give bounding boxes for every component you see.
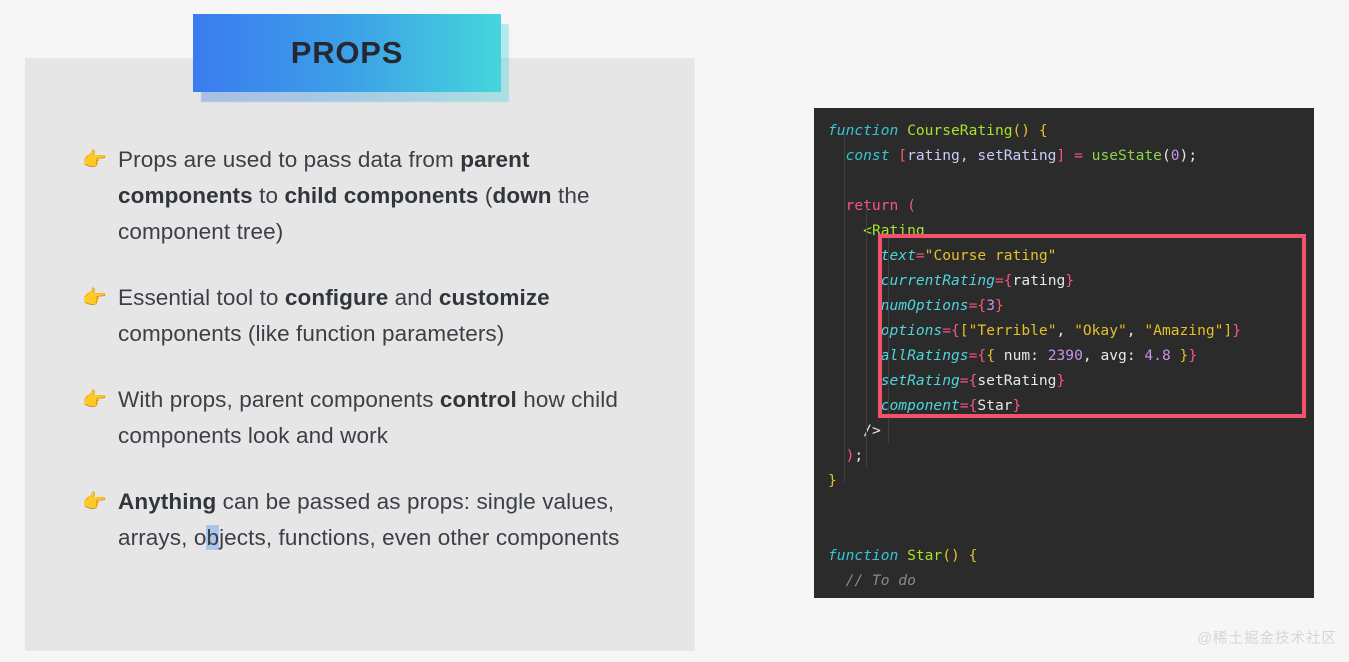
code-token: avg xyxy=(1100,347,1126,364)
code-token: options xyxy=(881,322,943,339)
code-panel: function CourseRating() { const [rating,… xyxy=(814,108,1314,598)
bullet-text: With props, parent components control ho… xyxy=(118,382,642,454)
code-token: component xyxy=(881,397,960,414)
code-token: function xyxy=(828,547,907,564)
watermark: @稀土掘金技术社区 xyxy=(1197,627,1337,648)
code-token: } xyxy=(1232,322,1241,339)
bullet-list: 👉Props are used to pass data from parent… xyxy=(82,142,642,586)
code-token: ] xyxy=(1056,147,1065,164)
code-line: currentRating={rating} xyxy=(828,268,1314,293)
code-token: () xyxy=(942,547,960,564)
code-line: numOptions={3} xyxy=(828,293,1314,318)
code-line: function CourseRating() { xyxy=(828,118,1314,143)
code-token xyxy=(1030,122,1039,139)
code-token: ] xyxy=(1223,322,1232,339)
pointing-hand-icon: 👉 xyxy=(82,382,118,417)
bullet-item: 👉Anything can be passed as props: single… xyxy=(82,484,642,556)
code-token: ( xyxy=(907,197,916,214)
code-token: function xyxy=(828,122,907,139)
code-token: = xyxy=(942,322,951,339)
code-token: : xyxy=(1030,347,1048,364)
code-token: "Course rating" xyxy=(925,247,1057,264)
code-token xyxy=(828,347,881,364)
code-token xyxy=(828,322,881,339)
code-line: options={["Terrible", "Okay", "Amazing"]… xyxy=(828,318,1314,343)
code-token: numOptions xyxy=(881,297,969,314)
code-line: /> xyxy=(828,418,1314,443)
code-token xyxy=(828,372,881,389)
code-token: { xyxy=(1004,272,1013,289)
bullet-text: Anything can be passed as props: single … xyxy=(118,484,642,556)
code-token xyxy=(995,347,1004,364)
code-token: currentRating xyxy=(881,272,995,289)
code-token: 2390 xyxy=(1048,347,1083,364)
code-token xyxy=(1083,147,1092,164)
code-token: { xyxy=(969,547,978,564)
code-token: , xyxy=(960,147,978,164)
code-line: ); xyxy=(828,443,1314,468)
code-token: { xyxy=(1039,122,1048,139)
code-token xyxy=(828,272,881,289)
code-token: useState xyxy=(1092,147,1162,164)
bullet-text: Props are used to pass data from parent … xyxy=(118,142,642,250)
code-token: } xyxy=(1065,272,1074,289)
code-line: component={Star} xyxy=(828,393,1314,418)
code-token: ( xyxy=(1162,147,1171,164)
code-token xyxy=(828,572,846,589)
code-token: = xyxy=(995,272,1004,289)
code-token: "Okay" xyxy=(1074,322,1127,339)
code-token: } xyxy=(1013,397,1022,414)
code-token: : xyxy=(1127,347,1145,364)
code-token: 0 xyxy=(1171,147,1180,164)
code-token: = xyxy=(960,397,969,414)
pointing-hand-icon: 👉 xyxy=(82,484,118,519)
code-token: return xyxy=(846,197,899,214)
code-line: allRatings={{ num: 2390, avg: 4.8 }} xyxy=(828,343,1314,368)
code-token: CourseRating xyxy=(907,122,1012,139)
code-token: Star xyxy=(907,547,942,564)
code-token: { xyxy=(977,297,986,314)
indent-guide xyxy=(866,208,867,468)
page-title: PROPS xyxy=(291,35,404,71)
code-token: = xyxy=(960,372,969,389)
code-token: } xyxy=(828,472,837,489)
code-token: text xyxy=(881,247,916,264)
bullet-item: 👉Essential tool to configure and customi… xyxy=(82,280,642,352)
code-token: } xyxy=(828,597,837,598)
code-token xyxy=(828,247,881,264)
code-token: [ xyxy=(898,147,907,164)
code-token: } xyxy=(1056,372,1065,389)
code-token: } xyxy=(1188,347,1197,364)
bullet-item: 👉Props are used to pass data from parent… xyxy=(82,142,642,250)
code-token: ; xyxy=(1188,147,1197,164)
code-block: function CourseRating() { const [rating,… xyxy=(814,108,1314,598)
code-token: { xyxy=(951,322,960,339)
code-token xyxy=(828,222,863,239)
code-token: { xyxy=(986,347,995,364)
code-token: ; xyxy=(854,447,863,464)
code-line: } xyxy=(828,468,1314,493)
code-token: Star xyxy=(977,397,1012,414)
code-token: () xyxy=(1013,122,1031,139)
pointing-hand-icon: 👉 xyxy=(82,142,118,177)
code-token: // To do xyxy=(846,572,916,589)
code-line xyxy=(828,493,1314,518)
code-line: return ( xyxy=(828,193,1314,218)
code-token: = xyxy=(1074,147,1083,164)
code-token: 4.8 xyxy=(1144,347,1170,364)
code-token xyxy=(898,197,907,214)
code-token xyxy=(828,422,863,439)
code-line: function Star() { xyxy=(828,543,1314,568)
pointing-hand-icon: 👉 xyxy=(82,280,118,315)
code-line: text="Course rating" xyxy=(828,243,1314,268)
code-token: setRating xyxy=(977,147,1056,164)
code-token: setRating xyxy=(881,372,960,389)
bullet-text: Essential tool to configure and customiz… xyxy=(118,280,642,352)
code-token: rating xyxy=(1013,272,1066,289)
code-line: <Rating xyxy=(828,218,1314,243)
code-token: setRating xyxy=(977,372,1056,389)
code-token xyxy=(1065,147,1074,164)
code-token: , xyxy=(1083,347,1101,364)
code-token: const xyxy=(846,147,899,164)
bullet-item: 👉With props, parent components control h… xyxy=(82,382,642,454)
indent-guide xyxy=(888,233,889,443)
code-token: <Rating xyxy=(863,222,925,239)
code-line xyxy=(828,168,1314,193)
code-token: , xyxy=(1127,322,1145,339)
code-token: num xyxy=(1004,347,1030,364)
code-token xyxy=(828,397,881,414)
code-token xyxy=(1171,347,1180,364)
code-line: const [rating, setRating] = useState(0); xyxy=(828,143,1314,168)
code-token: } xyxy=(995,297,1004,314)
title-banner: PROPS xyxy=(193,14,501,92)
code-line: // To do xyxy=(828,568,1314,593)
code-line: setRating={setRating} xyxy=(828,368,1314,393)
code-token xyxy=(828,447,846,464)
code-token: rating xyxy=(907,147,960,164)
code-line xyxy=(828,518,1314,543)
code-token: , xyxy=(1057,322,1075,339)
code-token xyxy=(828,297,881,314)
code-token: allRatings xyxy=(881,347,969,364)
code-token xyxy=(828,147,846,164)
code-token: "Amazing" xyxy=(1144,322,1223,339)
code-token xyxy=(828,197,846,214)
code-token: = xyxy=(916,247,925,264)
indent-guide xyxy=(844,133,845,483)
code-token: "Terrible" xyxy=(969,322,1057,339)
title-banner-fill: PROPS xyxy=(193,14,501,92)
code-token: 3 xyxy=(986,297,995,314)
code-token xyxy=(960,547,969,564)
code-token: { xyxy=(977,347,986,364)
code-line: } xyxy=(828,593,1314,598)
code-token: [ xyxy=(960,322,969,339)
